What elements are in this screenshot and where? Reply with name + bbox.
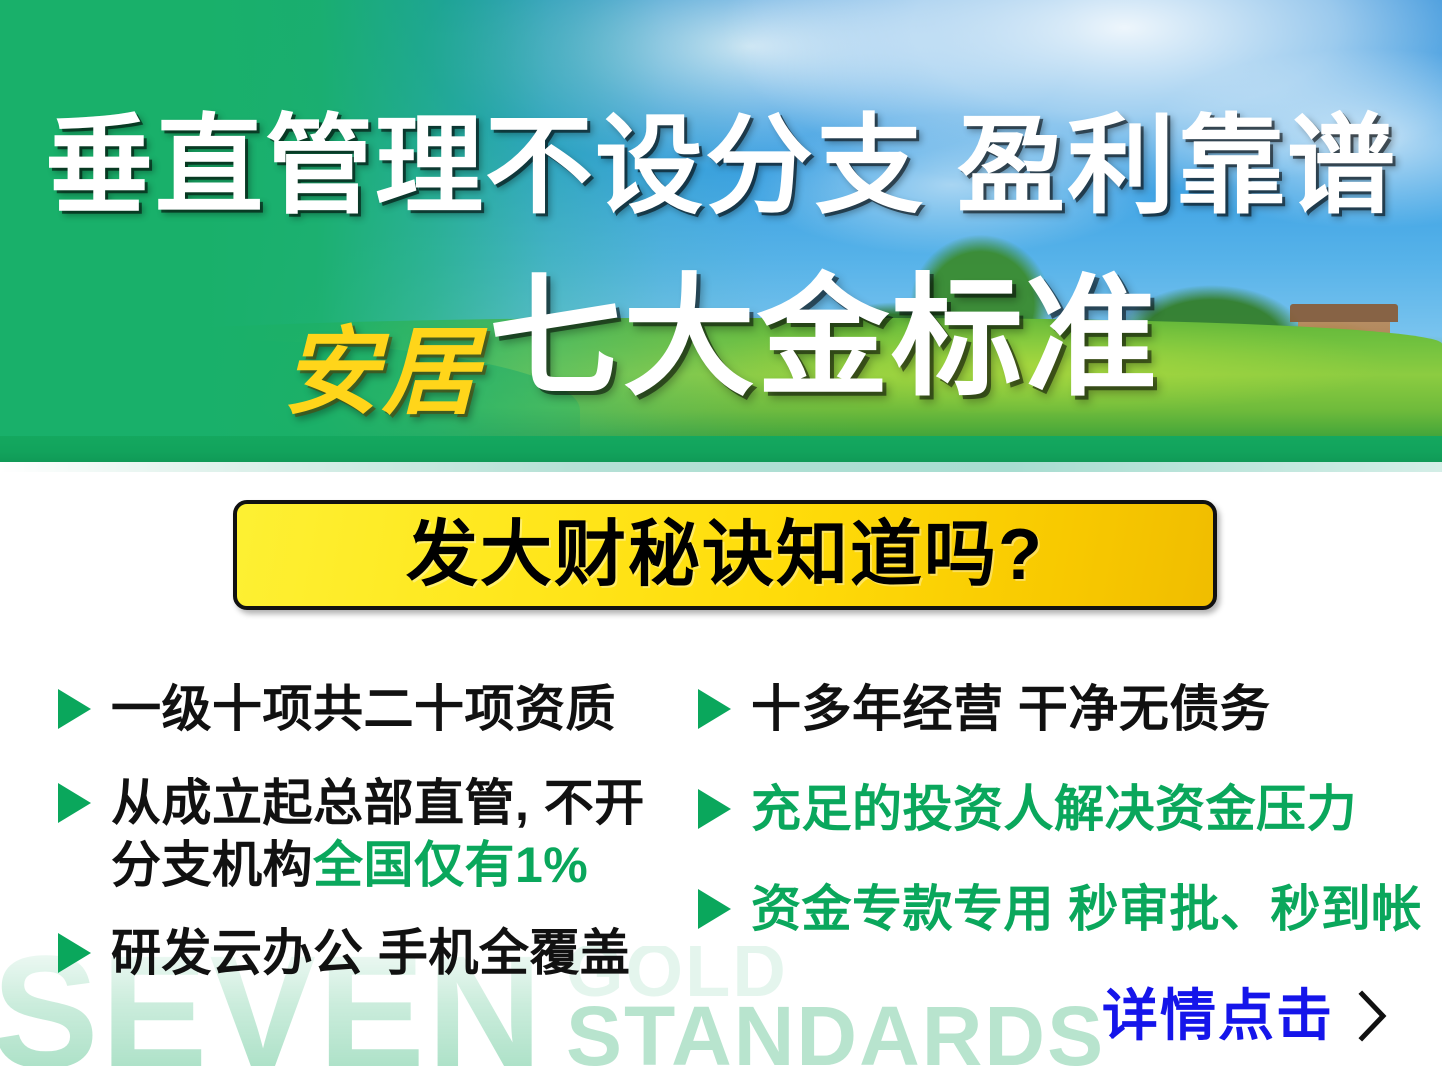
feature-item-qualifications: 一级十项共二十项资质 — [58, 678, 616, 740]
triangle-right-icon — [58, 933, 91, 973]
feature-item-fund-dedicated: 资金专款专用 秒审批、秒到帐 — [698, 878, 1422, 940]
feature-item-headquarters-direct: 从成立起总部直管, 不开分支机构全国仅有1% — [58, 772, 645, 896]
feature-text: 研发云办公 手机全覆盖 — [111, 922, 630, 984]
feature-list: 一级十项共二十项资质 从成立起总部直管, 不开分支机构全国仅有1% 研发云办公 … — [0, 664, 1442, 994]
feature-item-cloud-office: 研发云办公 手机全覆盖 — [58, 922, 630, 984]
triangle-right-icon — [58, 783, 91, 823]
hook-question-text: 发大财秘诀知道吗? — [406, 519, 1044, 591]
feature-text: 十多年经营 干净无债务 — [751, 678, 1270, 740]
feature-segment: 充足的投资人解决资金压力 — [751, 781, 1357, 837]
triangle-right-icon — [698, 889, 731, 929]
feature-segment: 十多年经营 干净无债务 — [751, 681, 1270, 737]
triangle-right-icon — [698, 689, 731, 729]
headline-standards-text: 七大金标准 — [489, 272, 1159, 404]
feature-text: 从成立起总部直管, 不开分支机构全国仅有1% — [111, 772, 645, 896]
feature-text: 充足的投资人解决资金压力 — [751, 778, 1357, 840]
headline-primary: 垂直管理不设分支 盈利靠谱 — [0, 112, 1442, 220]
triangle-right-icon — [58, 689, 91, 729]
feature-item-ten-years: 十多年经营 干净无债务 — [698, 678, 1270, 740]
headline-secondary: 安居七大金标准 — [0, 272, 1442, 404]
hero-shadow — [0, 462, 1442, 472]
feature-text: 一级十项共二十项资质 — [111, 678, 616, 740]
hero-bottom-bar — [0, 436, 1442, 462]
feature-item-investors: 充足的投资人解决资金压力 — [698, 778, 1357, 840]
details-link[interactable]: 详情点击 — [1102, 988, 1390, 1044]
feature-segment: 研发云办公 手机全覆盖 — [111, 925, 630, 981]
watermark-standards: STANDARDS — [566, 994, 1105, 1066]
chevron-right-icon — [1356, 988, 1390, 1044]
feature-text: 资金专款专用 秒审批、秒到帐 — [751, 878, 1422, 940]
feature-segment-highlight: 全国仅有1% — [313, 837, 588, 893]
promo-banner: 垂直管理不设分支 盈利靠谱 安居七大金标准 发大财秘诀知道吗? SEVEN GO… — [0, 0, 1442, 1066]
headline-brand-text: 安居 — [283, 325, 481, 421]
feature-segment: 一级十项共二十项资质 — [111, 681, 616, 737]
feature-segment: 资金专款专用 秒审批、秒到帐 — [751, 881, 1422, 937]
feature-segment: 从成立起总部直管, 不开 — [111, 775, 645, 831]
details-link-label: 详情点击 — [1102, 988, 1334, 1044]
feature-segment: 分支机构 — [111, 837, 313, 893]
triangle-right-icon — [698, 789, 731, 829]
hook-question-banner[interactable]: 发大财秘诀知道吗? — [233, 500, 1217, 610]
